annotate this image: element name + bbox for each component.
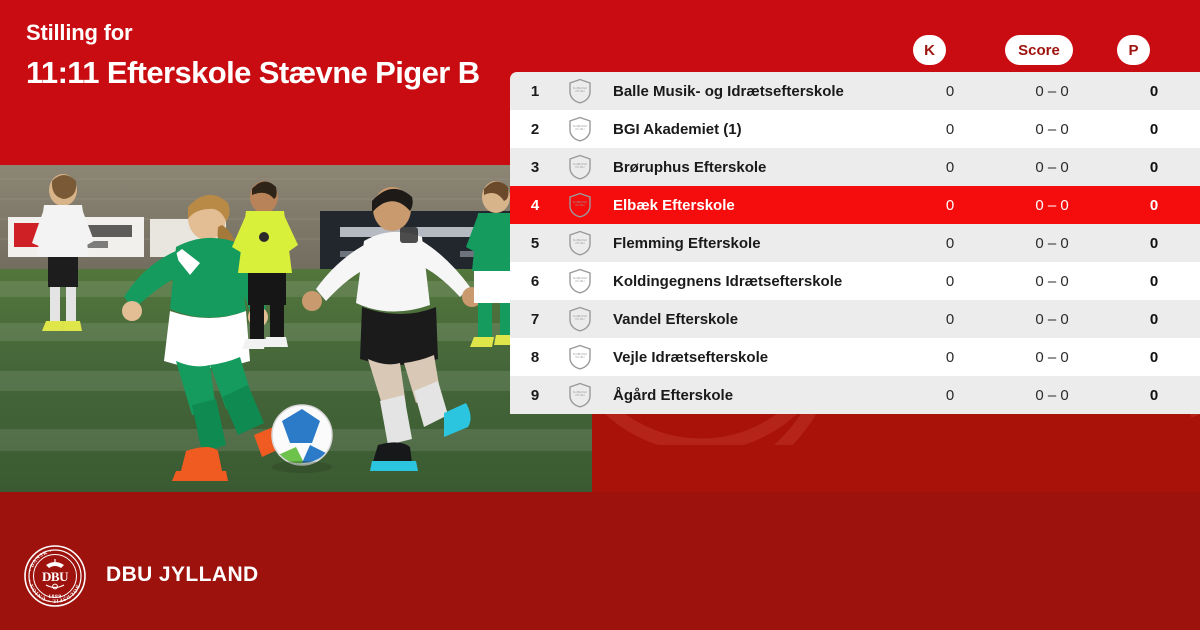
table-row[interactable]: 7KLUBLOGOPÅ VEJVandel Efterskole00 – 00 bbox=[510, 300, 1200, 338]
row-points: 0 bbox=[1108, 235, 1200, 252]
footer-bar bbox=[0, 492, 1200, 630]
column-header-k: K bbox=[913, 35, 946, 65]
row-points: 0 bbox=[1108, 311, 1200, 328]
row-rank: 9 bbox=[510, 387, 560, 404]
svg-text:KLUBLOGO: KLUBLOGO bbox=[573, 352, 587, 356]
table-row[interactable]: 5KLUBLOGOPÅ VEJFlemming Efterskole00 – 0… bbox=[510, 224, 1200, 262]
row-matches-played: 0 bbox=[904, 121, 996, 138]
row-points: 0 bbox=[1108, 387, 1200, 404]
svg-text:KLUBLOGO: KLUBLOGO bbox=[573, 238, 587, 242]
standings-graphic: Stilling for 11:11 Efterskole Stævne Pig… bbox=[0, 0, 1200, 630]
standings-table: 1KLUBLOGOPÅ VEJBalle Musik- og Idrætseft… bbox=[510, 72, 1200, 414]
table-row[interactable]: 3KLUBLOGOPÅ VEJBrøruphus Efterskole00 – … bbox=[510, 148, 1200, 186]
row-score: 0 – 0 bbox=[996, 121, 1108, 138]
row-matches-played: 0 bbox=[904, 349, 996, 366]
row-team-name: Balle Musik- og Idrætsefterskole bbox=[600, 83, 904, 100]
club-crest-icon: KLUBLOGOPÅ VEJ bbox=[560, 116, 600, 142]
club-crest-icon: KLUBLOGOPÅ VEJ bbox=[560, 192, 600, 218]
row-matches-played: 0 bbox=[904, 387, 996, 404]
row-rank: 8 bbox=[510, 349, 560, 366]
row-rank: 4 bbox=[510, 197, 560, 214]
row-matches-played: 0 bbox=[904, 197, 996, 214]
row-team-name: BGI Akademiet (1) bbox=[600, 121, 904, 138]
row-team-name: Vandel Efterskole bbox=[600, 311, 904, 328]
row-score: 0 – 0 bbox=[996, 83, 1108, 100]
svg-text:KLUBLOGO: KLUBLOGO bbox=[573, 276, 587, 280]
row-team-name: Flemming Efterskole bbox=[600, 235, 904, 252]
svg-text:KLUBLOGO: KLUBLOGO bbox=[573, 124, 587, 128]
row-team-name: Brøruphus Efterskole bbox=[600, 159, 904, 176]
column-header-score: Score bbox=[1005, 35, 1073, 65]
row-matches-played: 0 bbox=[904, 311, 996, 328]
svg-text:KLUBLOGO: KLUBLOGO bbox=[573, 200, 587, 204]
svg-text:DBU: DBU bbox=[42, 569, 69, 584]
row-team-name: Elbæk Efterskole bbox=[600, 197, 904, 214]
club-crest-icon: KLUBLOGOPÅ VEJ bbox=[560, 268, 600, 294]
row-points: 0 bbox=[1108, 121, 1200, 138]
row-matches-played: 0 bbox=[904, 159, 996, 176]
row-matches-played: 0 bbox=[904, 273, 996, 290]
row-team-name: Vejle Idrætsefterskole bbox=[600, 349, 904, 366]
table-row[interactable]: 2KLUBLOGOPÅ VEJBGI Akademiet (1)00 – 00 bbox=[510, 110, 1200, 148]
club-crest-icon: KLUBLOGOPÅ VEJ bbox=[560, 230, 600, 256]
row-rank: 5 bbox=[510, 235, 560, 252]
club-crest-icon: KLUBLOGOPÅ VEJ bbox=[560, 154, 600, 180]
row-score: 0 – 0 bbox=[996, 235, 1108, 252]
column-header-badges: K Score P bbox=[0, 0, 1200, 72]
row-score: 0 – 0 bbox=[996, 197, 1108, 214]
row-points: 0 bbox=[1108, 197, 1200, 214]
column-header-p: P bbox=[1117, 35, 1150, 65]
row-rank: 2 bbox=[510, 121, 560, 138]
row-score: 0 – 0 bbox=[996, 387, 1108, 404]
svg-text:· 1889 ·: · 1889 · bbox=[44, 594, 67, 600]
row-score: 0 – 0 bbox=[996, 311, 1108, 328]
row-points: 0 bbox=[1108, 349, 1200, 366]
row-rank: 3 bbox=[510, 159, 560, 176]
row-team-name: Ågård Efterskole bbox=[600, 387, 904, 404]
club-crest-icon: KLUBLOGOPÅ VEJ bbox=[560, 382, 600, 408]
svg-text:KLUBLOGO: KLUBLOGO bbox=[573, 390, 587, 394]
footer-org-name: DBU JYLLAND bbox=[106, 563, 259, 587]
row-points: 0 bbox=[1108, 159, 1200, 176]
row-matches-played: 0 bbox=[904, 235, 996, 252]
row-score: 0 – 0 bbox=[996, 273, 1108, 290]
table-row[interactable]: 8KLUBLOGOPÅ VEJVejle Idrætsefterskole00 … bbox=[510, 338, 1200, 376]
svg-text:KLUBLOGO: KLUBLOGO bbox=[573, 86, 587, 90]
row-rank: 7 bbox=[510, 311, 560, 328]
table-row[interactable]: 9KLUBLOGOPÅ VEJÅgård Efterskole00 – 00 bbox=[510, 376, 1200, 414]
row-points: 0 bbox=[1108, 273, 1200, 290]
club-crest-icon: KLUBLOGOPÅ VEJ bbox=[560, 78, 600, 104]
club-crest-icon: KLUBLOGOPÅ VEJ bbox=[560, 306, 600, 332]
football-match-photo bbox=[0, 165, 592, 492]
row-score: 0 – 0 bbox=[996, 349, 1108, 366]
row-team-name: Koldingegnens Idrætsefterskole bbox=[600, 273, 904, 290]
dbu-crest-icon: BOLDSPIL · UNION · · DANSK · DBU · 1889 … bbox=[24, 545, 86, 607]
row-rank: 6 bbox=[510, 273, 560, 290]
svg-text:KLUBLOGO: KLUBLOGO bbox=[573, 162, 587, 166]
row-score: 0 – 0 bbox=[996, 159, 1108, 176]
club-crest-icon: KLUBLOGOPÅ VEJ bbox=[560, 344, 600, 370]
table-row[interactable]: 4KLUBLOGOPÅ VEJElbæk Efterskole00 – 00 bbox=[510, 186, 1200, 224]
row-rank: 1 bbox=[510, 83, 560, 100]
table-row[interactable]: 6KLUBLOGOPÅ VEJKoldingegnens Idrætsefter… bbox=[510, 262, 1200, 300]
svg-text:KLUBLOGO: KLUBLOGO bbox=[573, 314, 587, 318]
table-row[interactable]: 1KLUBLOGOPÅ VEJBalle Musik- og Idrætseft… bbox=[510, 72, 1200, 110]
row-points: 0 bbox=[1108, 83, 1200, 100]
row-matches-played: 0 bbox=[904, 83, 996, 100]
